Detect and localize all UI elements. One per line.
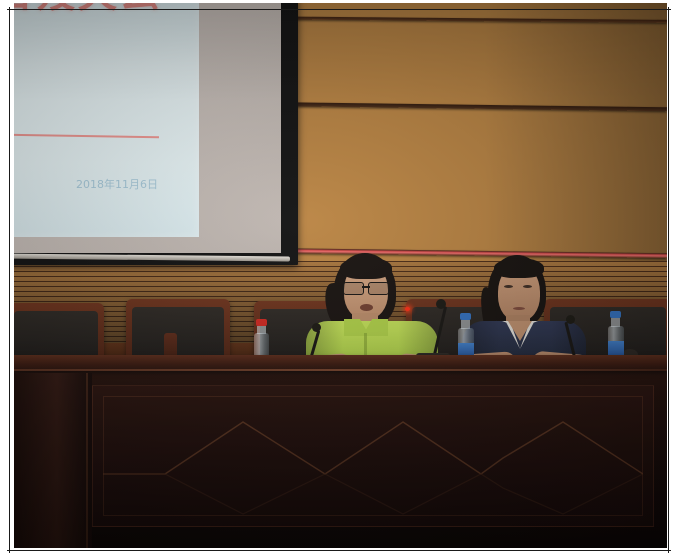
attendee-eye-left xyxy=(504,285,513,288)
photograph: 日殁夭么 2018年11月6日 xyxy=(14,3,667,548)
projector-screen-surface: 日殁夭么 2018年11月6日 xyxy=(14,3,281,253)
projector-screen: 日殁夭么 2018年11月6日 xyxy=(14,3,298,265)
speaker-glasses xyxy=(343,282,389,293)
frame-hairline-right xyxy=(668,7,669,553)
podium-front-panel xyxy=(92,385,654,527)
frame-hairline-bottom xyxy=(7,550,671,551)
bottle-cap xyxy=(460,313,471,320)
speaker-fringe xyxy=(340,257,392,279)
podium-left-side-panel xyxy=(14,373,92,548)
projector-screen-bottom-rod xyxy=(14,253,290,261)
photo-frame: 日殁夭么 2018年11月6日 xyxy=(0,0,678,560)
bottle-label xyxy=(608,341,624,355)
mic-active-led xyxy=(405,307,410,311)
chair-cushion xyxy=(132,307,224,362)
glasses-bridge xyxy=(362,286,370,288)
slide-title-text: 日殁夭么 xyxy=(14,3,194,15)
mic-capsule xyxy=(312,323,321,332)
mic-capsule xyxy=(436,299,446,309)
conference-podium xyxy=(14,355,667,548)
speaker-mouth xyxy=(360,304,373,311)
mic-stem xyxy=(432,306,447,359)
glasses-lens-left xyxy=(343,282,364,295)
attendee-fringe xyxy=(494,258,544,278)
slide-horizontal-rule xyxy=(14,134,159,138)
slide-date-text: 2018年11月6日 xyxy=(76,176,158,192)
frame-hairline-left xyxy=(9,7,10,553)
attendee-mouth xyxy=(513,307,525,310)
mic-capsule xyxy=(566,315,575,324)
podium-top-highlight xyxy=(14,369,667,371)
glasses-lens-right xyxy=(368,282,389,295)
bottle-cap xyxy=(610,311,621,318)
podium-side-seam xyxy=(86,373,88,548)
bottle-cap xyxy=(256,319,267,326)
attendee-eye-right xyxy=(523,285,532,288)
projected-slide: 日殁夭么 2018年11月6日 xyxy=(14,3,199,237)
podium-diamond-inlay-icon xyxy=(103,396,643,516)
